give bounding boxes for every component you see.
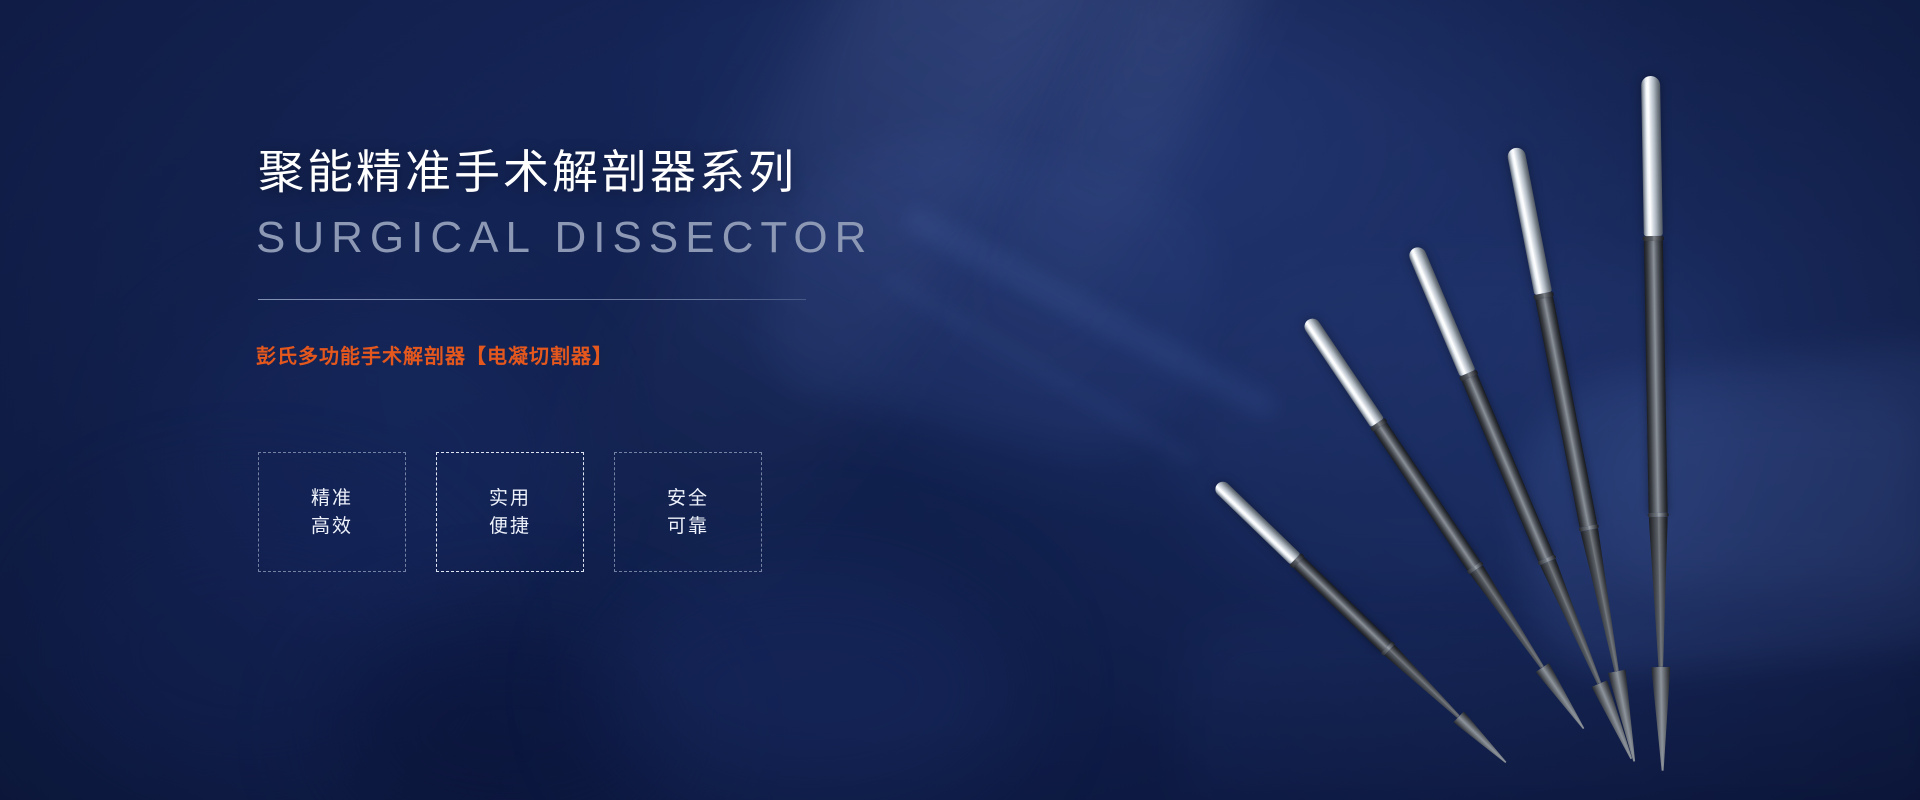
feature-1-line-1: 精准 [311, 489, 353, 508]
feature-list: 精准 高效 实用 便捷 安全 可靠 [258, 452, 762, 572]
feature-2-line-1: 实用 [489, 489, 531, 508]
feature-3-line-1: 安全 [667, 489, 709, 508]
feature-2-line-2: 便捷 [489, 517, 531, 536]
feature-box-1: 精准 高效 [258, 452, 406, 572]
product-name: 彭氏多功能手术解剖器【电凝切割器】 [256, 340, 613, 369]
feature-box-3: 安全 可靠 [614, 452, 762, 572]
feature-1-line-2: 高效 [311, 517, 353, 536]
feature-box-2: 实用 便捷 [436, 452, 584, 572]
divider [258, 299, 806, 300]
page-title: 聚能精准手术解剖器系列 [258, 136, 797, 202]
background-vignette [0, 0, 1920, 800]
page-subtitle-en: SURGICAL DISSECTOR [256, 213, 873, 263]
feature-3-line-2: 可靠 [667, 517, 709, 536]
surgical-dissector-banner: 聚能精准手术解剖器系列 SURGICAL DISSECTOR 彭氏多功能手术解剖… [0, 0, 1920, 800]
